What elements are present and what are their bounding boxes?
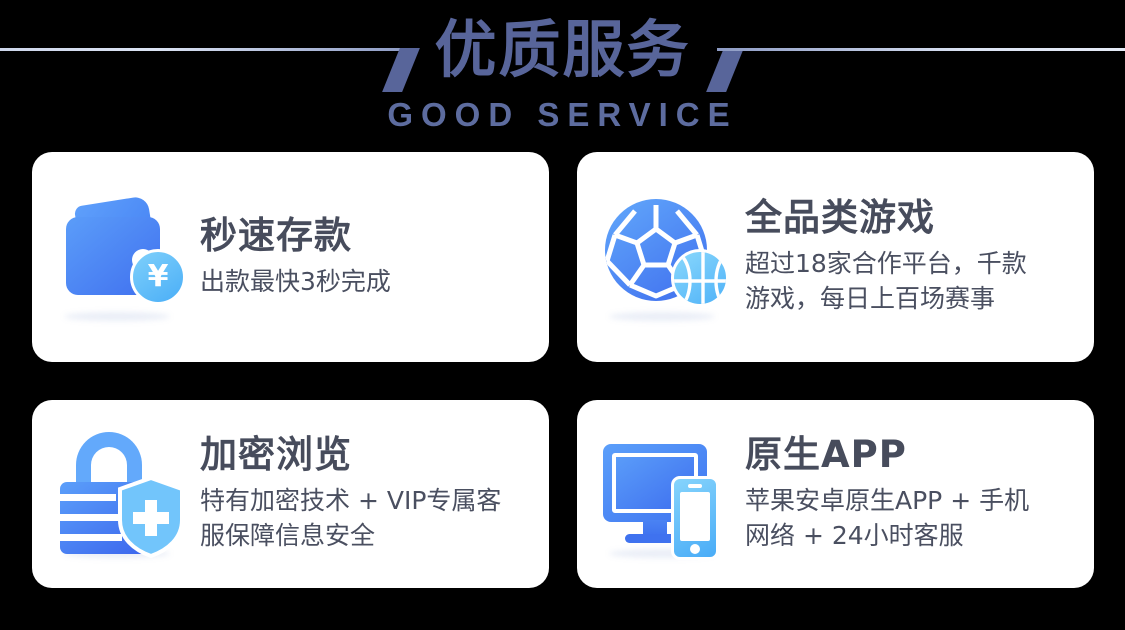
feature-card-games[interactable]: 全品类游戏 超过18家合作平台，千款游戏，每日上百场赛事	[577, 152, 1094, 362]
deco-line-right-bar	[717, 48, 1125, 51]
feature-card-deposit[interactable]: ¥ 秒速存款 出款最快3秒完成	[32, 152, 549, 362]
card-title: 加密浏览	[200, 434, 531, 477]
page-header: 优质服务 GOOD SERVICE	[0, 0, 1125, 148]
deco-line-left-bar	[0, 48, 409, 51]
soccer-basketball-icon	[599, 187, 739, 327]
card-description: 苹果安卓原生APP + 手机网络 + 24小时客服	[745, 483, 1076, 554]
lock-slot	[60, 494, 116, 501]
phone-screen	[680, 492, 710, 541]
card-title: 秒速存款	[200, 215, 531, 258]
phone-home-button	[690, 544, 700, 554]
wallet-icon: ¥	[54, 187, 194, 327]
decorative-line-right	[717, 26, 1125, 74]
page-title: 优质服务	[409, 19, 717, 81]
phone-icon	[671, 476, 719, 560]
card-text: 原生APP 苹果安卓原生APP + 手机网络 + 24小时客服	[739, 434, 1076, 554]
decorative-line-left	[0, 26, 409, 74]
card-title: 全品类游戏	[745, 197, 1076, 240]
card-description: 超过18家合作平台，千款游戏，每日上百场赛事	[745, 246, 1076, 317]
lock-shield-icon	[54, 424, 194, 564]
lock-slot	[60, 534, 122, 541]
icon-shadow	[609, 312, 715, 321]
feature-card-encryption[interactable]: 加密浏览 特有加密技术 + VIP专属客服保障信息安全	[32, 400, 549, 588]
card-text: 全品类游戏 超过18家合作平台，千款游戏，每日上百场赛事	[739, 197, 1076, 317]
shield-icon	[116, 476, 186, 558]
card-title: 原生APP	[745, 434, 1076, 477]
feature-card-native-app[interactable]: 原生APP 苹果安卓原生APP + 手机网络 + 24小时客服	[577, 400, 1094, 588]
page-subtitle: GOOD SERVICE	[0, 97, 1125, 133]
card-text: 加密浏览 特有加密技术 + VIP专属客服保障信息安全	[194, 434, 531, 554]
basketball-icon	[671, 249, 729, 307]
card-text: 秒速存款 出款最快3秒完成	[194, 215, 531, 299]
phone-speaker	[688, 484, 702, 488]
card-description: 特有加密技术 + VIP专属客服保障信息安全	[200, 483, 531, 554]
feature-card-grid: ¥ 秒速存款 出款最快3秒完成	[32, 152, 1094, 588]
monitor-phone-icon	[599, 424, 739, 564]
card-description: 出款最快3秒完成	[200, 264, 531, 300]
title-row: 优质服务	[0, 4, 1125, 96]
icon-shadow	[64, 312, 170, 321]
yen-coin-icon: ¥	[130, 249, 186, 305]
